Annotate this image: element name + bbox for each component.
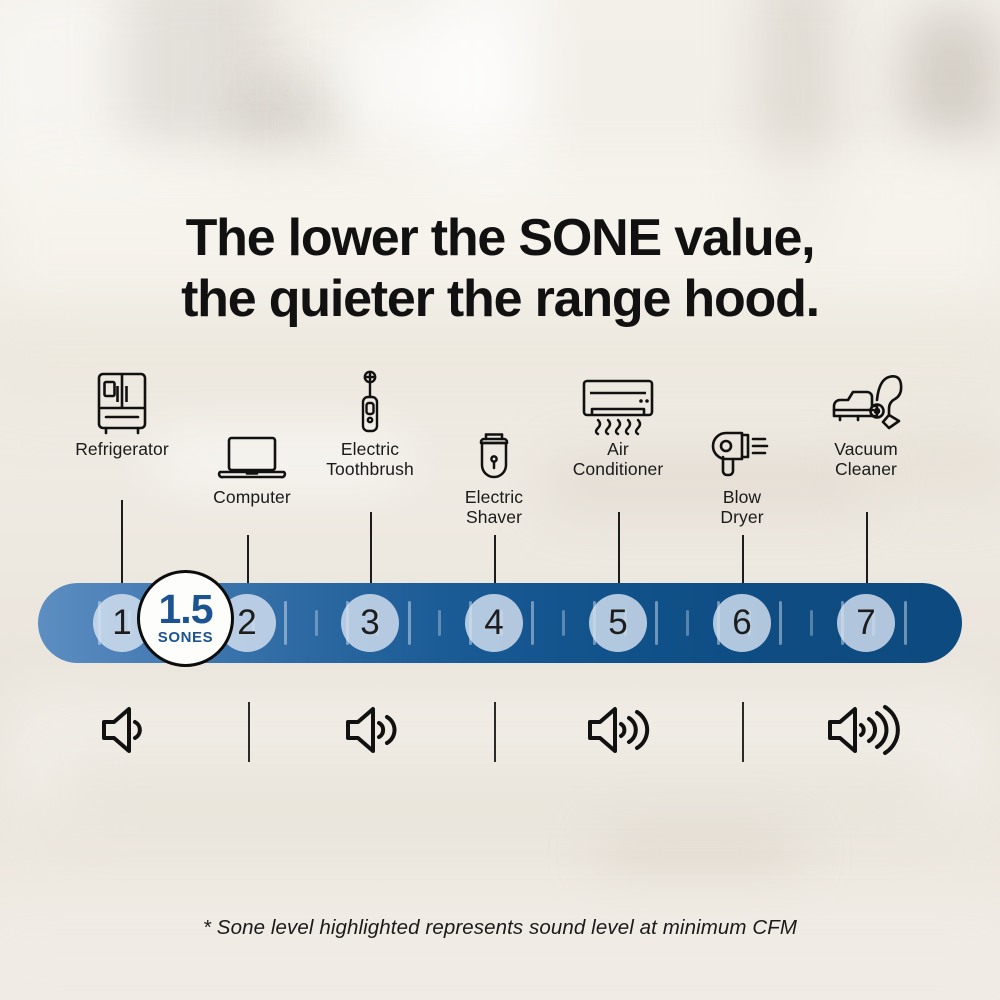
connector-line-air-conditioner bbox=[618, 512, 620, 592]
badge-value: 1.5 bbox=[159, 591, 213, 629]
speaker-volume-1 bbox=[96, 700, 158, 765]
connector-line-refrigerator bbox=[121, 500, 123, 592]
speaker-volume-3 bbox=[582, 700, 662, 765]
badge-unit: SONES bbox=[158, 629, 214, 646]
appliance-label: Blow Dryer bbox=[662, 487, 822, 528]
page-title: The lower the SONE value, the quieter th… bbox=[0, 208, 1000, 331]
appliance-label: Vacuum Cleaner bbox=[786, 439, 946, 480]
status-badge-sone-value: 1.5 SONES bbox=[137, 570, 234, 667]
scale-number-7: 7 bbox=[837, 594, 895, 652]
footnote-text: * Sone level highlighted represents soun… bbox=[0, 916, 1000, 940]
scale-number-4: 4 bbox=[465, 594, 523, 652]
scale-number-5: 5 bbox=[589, 594, 647, 652]
headline-line-2: the quieter the range hood. bbox=[0, 269, 1000, 330]
appliance-item-vacuum-cleaner: Vacuum Cleaner bbox=[786, 370, 946, 480]
scale-number-3: 3 bbox=[341, 594, 399, 652]
speaker-divider-1 bbox=[248, 702, 250, 762]
speaker-volume-4 bbox=[822, 700, 912, 765]
scale-number-6: 6 bbox=[713, 594, 771, 652]
connector-line-vacuum-cleaner bbox=[866, 512, 868, 592]
speaker-volume-2 bbox=[340, 700, 410, 765]
headline-line-1: The lower the SONE value, bbox=[186, 209, 815, 267]
connector-line-electric-toothbrush bbox=[370, 512, 372, 592]
vacuum-cleaner-icon bbox=[786, 370, 946, 436]
speaker-divider-2 bbox=[494, 702, 496, 762]
speaker-divider-3 bbox=[742, 702, 744, 762]
appliance-label: Electric Shaver bbox=[414, 487, 574, 528]
appliance-label: Computer bbox=[172, 487, 332, 507]
